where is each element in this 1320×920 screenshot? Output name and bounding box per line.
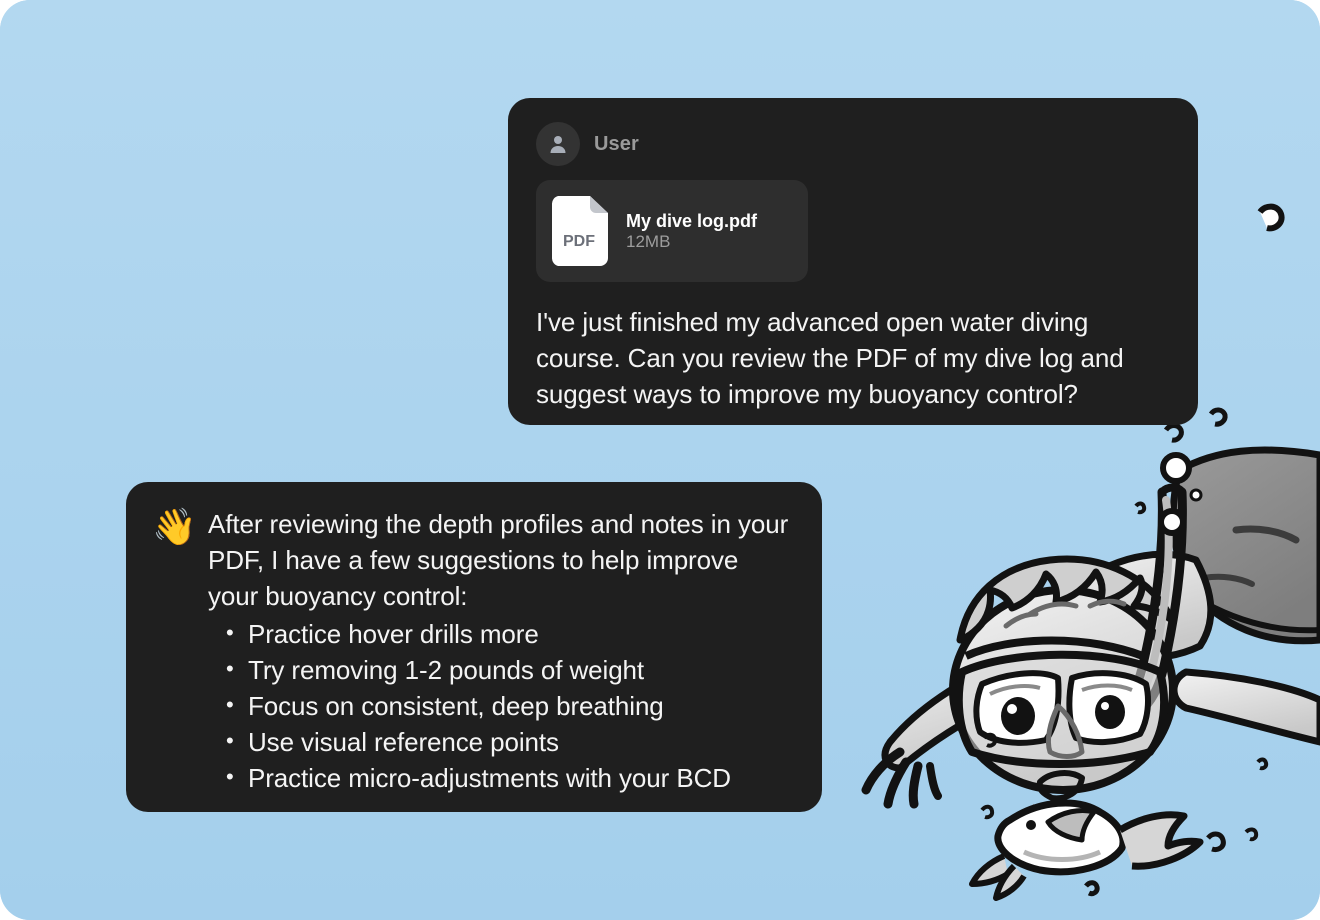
assistant-message-bubble: 👋 After reviewing the depth profiles and… [126,482,822,812]
attachment-file-name: My dive log.pdf [626,211,757,231]
suggestion-item: Practice micro-adjustments with your BCD [224,760,792,796]
snorkeler-figure [866,450,1320,815]
attachment-meta: My dive log.pdf 12MB [626,210,784,253]
assistant-message-body: After reviewing the depth profiles and n… [208,506,792,796]
pdf-attachment-card[interactable]: PDF My dive log.pdf 12MB [536,180,808,282]
suggestion-item: Use visual reference points [224,724,792,760]
pdf-file-icon: PDF [552,196,608,266]
suggestion-item: Practice hover drills more [224,616,792,652]
suggestion-item: Focus on consistent, deep breathing [224,688,792,724]
waving-hand-emoji: 👋 [152,508,196,552]
suggestion-list: Practice hover drills moreTry removing 1… [208,616,792,796]
user-name-label: User [594,133,639,156]
user-header: User [536,122,1170,166]
attachment-file-size: 12MB [626,232,670,251]
assistant-intro-text: After reviewing the depth profiles and n… [208,506,792,614]
person-avatar-icon [536,122,580,166]
suggestion-item: Try removing 1-2 pounds of weight [224,652,792,688]
app-canvas: User PDF My dive log.pdf 12MB I've just … [0,0,1320,920]
user-message-text: I've just finished my advanced open wate… [536,304,1170,412]
assistant-message-row: 👋 After reviewing the depth profiles and… [152,506,792,796]
fish-figure [972,803,1200,898]
svg-text:PDF: PDF [563,233,595,250]
user-message-bubble: User PDF My dive log.pdf 12MB I've just … [508,98,1198,425]
